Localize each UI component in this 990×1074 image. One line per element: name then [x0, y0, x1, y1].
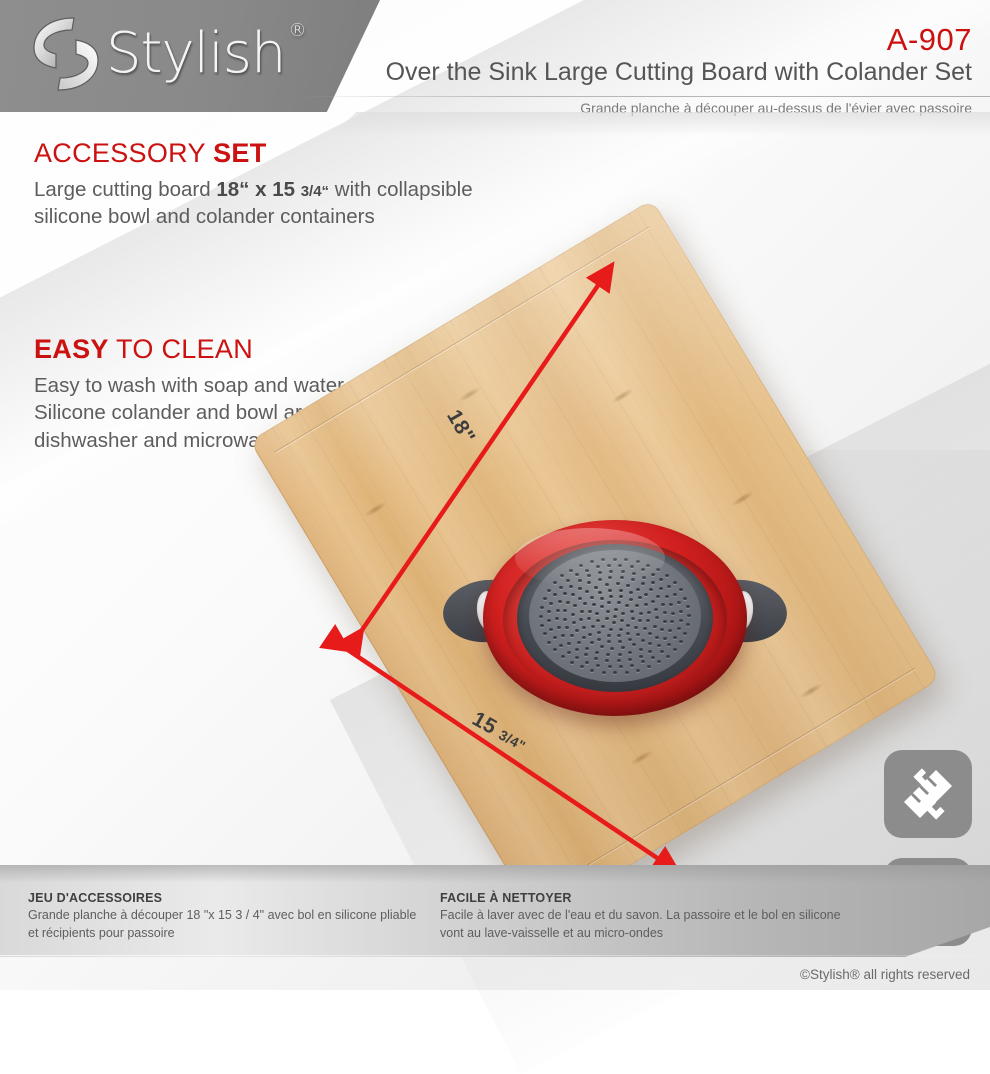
colander-perforation	[666, 655, 670, 658]
colander-perforation	[651, 581, 655, 584]
colander-perforation	[591, 625, 595, 628]
colander-perforation	[567, 651, 571, 654]
colander-perforation	[606, 653, 610, 656]
colander-perforation	[597, 638, 601, 641]
colander-perforation	[579, 564, 583, 567]
colander-perforation	[605, 617, 609, 620]
colander-perforation	[600, 597, 604, 600]
colander-perforation	[547, 641, 551, 644]
colander-perforation	[638, 596, 642, 599]
colander-perforation	[575, 629, 579, 632]
colander-perforation	[560, 574, 564, 577]
feature-body-fraction: 3/4“	[301, 183, 329, 200]
colander-perforation	[639, 655, 643, 658]
colander-perforation	[648, 632, 652, 635]
colander-perforation	[655, 636, 659, 639]
colander-perforation	[641, 639, 645, 642]
footer-column-left: JEU D'ACCESSOIRES Grande planche à décou…	[28, 891, 428, 943]
colander-perforation	[638, 619, 642, 622]
colander-perforation	[605, 583, 609, 586]
colander-perforation	[626, 632, 630, 635]
footer-text: Grande planche à découper 18 "x 15 3 / 4…	[28, 907, 428, 943]
colander-perforation	[612, 621, 616, 624]
colander-perforation	[636, 560, 640, 563]
colander-perforation	[543, 632, 547, 635]
colander-perforation	[671, 612, 675, 615]
colander-perforation	[659, 578, 663, 581]
colander-perforation	[618, 564, 622, 567]
silicone-colander	[455, 520, 775, 725]
copyright-notice: ©Stylish® all rights reserved	[800, 967, 970, 982]
colander-perforation	[670, 620, 674, 623]
colander-perforation	[601, 558, 605, 561]
colander-perforation	[569, 585, 573, 588]
colander-perforation	[687, 614, 691, 617]
colander-perforation	[609, 628, 613, 631]
colander-perforation	[547, 619, 551, 622]
colander-perforation	[563, 592, 567, 595]
colander-perforation	[649, 588, 653, 591]
colander-perforation	[572, 621, 576, 624]
colander-perforation	[607, 564, 611, 567]
colander-perforation	[596, 619, 600, 622]
feature-heading-bold: EASY	[34, 334, 109, 364]
colander-perforation	[669, 603, 673, 606]
colander-perforation	[646, 619, 650, 622]
colander-perforation	[610, 647, 614, 650]
colander-perforation	[553, 593, 557, 596]
colander-perforation	[585, 590, 589, 593]
colander-perforation	[686, 623, 690, 626]
colander-perforation	[597, 631, 601, 634]
colander-perforation	[613, 615, 617, 618]
colander-perforation	[607, 634, 611, 637]
colander-perforation	[619, 628, 623, 631]
model-number: A-907	[887, 22, 972, 58]
colander-perforation	[647, 665, 651, 668]
colander-perforation	[582, 636, 586, 639]
feature-accessory-set: ACCESSORY SET Large cutting board 18“ x …	[34, 138, 494, 231]
colander-perforation	[655, 616, 659, 619]
colander-perforation	[608, 665, 612, 668]
colander-perforation	[587, 617, 591, 620]
colander-perforation	[573, 604, 577, 607]
colander-perforation	[555, 617, 559, 620]
product-title: Over the Sink Large Cutting Board with C…	[386, 58, 972, 87]
colander-perforation	[621, 570, 625, 573]
colander-perforation	[647, 611, 651, 614]
feature-heading-bold: SET	[213, 138, 266, 168]
colander-perforation	[629, 598, 633, 601]
colander-perforation	[595, 651, 599, 654]
colander-perforation	[577, 641, 581, 644]
colander-perforation	[559, 586, 563, 589]
colander-perforation	[628, 658, 632, 661]
colander-perforation	[590, 669, 594, 672]
colander-perforation	[673, 581, 677, 584]
colander-perforation	[617, 601, 621, 604]
colander-perforation	[667, 585, 671, 588]
colander-perforation	[656, 595, 660, 598]
colander-perforation	[679, 588, 683, 591]
colander-perforation	[642, 576, 646, 579]
colander-perforation	[686, 605, 690, 608]
colander-perforation	[648, 650, 652, 653]
colander-perforation	[585, 661, 589, 664]
colander-perforation	[651, 573, 655, 576]
footer-column-right: FACILE À NETTOYER Facile à laver avec de…	[440, 891, 860, 943]
colander-perforation	[549, 628, 553, 631]
colander-perforation	[590, 596, 594, 599]
colander-perforation	[595, 612, 599, 615]
colander-perforation	[657, 644, 661, 647]
colander-perforation	[631, 578, 635, 581]
colander-perforation	[665, 595, 669, 598]
feature-body-pre: Large cutting board	[34, 178, 216, 201]
colander-perforation	[679, 619, 683, 622]
colander-perforation	[549, 602, 553, 605]
colander-perforation	[543, 597, 547, 600]
colander-perforation	[653, 625, 657, 628]
colander-perforation	[596, 565, 600, 568]
feature-body: Large cutting board 18“ x 15 3/4“ with c…	[34, 176, 494, 231]
colander-perforation	[561, 655, 565, 658]
colander-perforation	[609, 595, 613, 598]
colander-perforation	[621, 646, 625, 649]
colander-perforation	[563, 609, 567, 612]
colander-perforation	[557, 626, 561, 629]
colander-perforation	[601, 625, 605, 628]
colander-perforation	[679, 640, 683, 643]
colander-perforation	[673, 593, 677, 596]
colander-perforation	[639, 648, 643, 651]
colander-perforation	[596, 664, 600, 667]
colander-perforation	[598, 578, 602, 581]
colander-perforation	[575, 656, 579, 659]
colander-perforation	[561, 634, 565, 637]
colander-perforation	[587, 581, 591, 584]
stylish-s-mark-icon	[28, 14, 104, 94]
header-sheen	[330, 112, 990, 136]
feature-heading-light: ACCESSORY	[34, 138, 213, 168]
colander-perforation	[558, 600, 562, 603]
pencil-ruler-icon	[898, 764, 958, 824]
colander-perforation	[553, 648, 557, 651]
colander-perforation	[602, 671, 606, 674]
colander-perforation	[620, 619, 624, 622]
colander-perforation	[594, 586, 598, 589]
colander-perforation	[585, 647, 589, 650]
colander-perforation	[606, 610, 610, 613]
colander-perforation	[636, 633, 640, 636]
colander-perforation	[617, 634, 621, 637]
colander-perforation	[566, 579, 570, 582]
colander-perforation	[673, 636, 677, 639]
colander-perforation	[677, 601, 681, 604]
colander-perforation	[663, 637, 667, 640]
colander-perforation	[626, 584, 630, 587]
page-background: Stylish ® A-907 Over the Sink Large Cutt…	[0, 0, 990, 990]
colander-perforation	[641, 568, 645, 571]
colander-perforation	[600, 645, 604, 648]
colander-perforation	[617, 659, 621, 662]
colander-perforation	[626, 624, 630, 627]
colander-perforation	[635, 604, 639, 607]
colander-perforation	[643, 627, 647, 630]
colander-perforation	[683, 597, 687, 600]
colander-perforation	[588, 610, 592, 613]
colander-perforation	[613, 558, 617, 561]
colander-perforation	[667, 643, 671, 646]
footer-text: Facile à laver avec de l'eau et du savon…	[440, 907, 860, 943]
footer-title: JEU D'ACCESSOIRES	[28, 891, 428, 905]
colander-perforation	[628, 651, 632, 654]
colander-perforation	[663, 620, 667, 623]
colander-perforation	[632, 643, 636, 646]
colander-perforation	[608, 576, 612, 579]
colander-perforation	[641, 582, 645, 585]
colander-perforation	[578, 579, 582, 582]
colander-perforation	[629, 591, 633, 594]
colander-perforation	[563, 618, 567, 621]
colander-perforation	[605, 659, 609, 662]
feature-heading-light: TO CLEAN	[109, 334, 253, 364]
colander-perforation	[636, 669, 640, 672]
footer-title: FACILE À NETTOYER	[440, 891, 860, 905]
colander-perforation	[660, 628, 664, 631]
colander-perforation	[668, 629, 672, 632]
colander-perforation	[625, 604, 629, 607]
colander-perforation	[660, 650, 664, 653]
footer: JEU D'ACCESSOIRES Grande planche à décou…	[0, 865, 990, 990]
colander-perforation	[565, 626, 569, 629]
colander-perforation	[683, 632, 687, 635]
colander-perforated-base	[529, 550, 701, 682]
colander-perforation	[587, 574, 591, 577]
colander-perforation	[630, 565, 634, 568]
colander-perforation	[625, 671, 629, 674]
colander-perforation	[579, 618, 583, 621]
colander-perforation	[547, 610, 551, 613]
colander-perforation	[619, 589, 623, 592]
colander-perforation	[594, 657, 598, 660]
colander-perforation	[539, 615, 543, 618]
colander-perforation	[665, 574, 669, 577]
colander-perforation	[619, 665, 623, 668]
colander-perforation	[559, 644, 563, 647]
colander-perforation	[634, 626, 638, 629]
header: Stylish ® A-907 Over the Sink Large Cutt…	[0, 0, 990, 122]
colander-perforation	[598, 591, 602, 594]
colander-perforation	[628, 638, 632, 641]
colander-perforation	[648, 642, 652, 645]
badge-tools-measure	[884, 750, 972, 838]
colander-perforation	[646, 564, 650, 567]
colander-perforation	[588, 633, 592, 636]
feature-heading: ACCESSORY SET	[34, 138, 494, 169]
colander-perforation	[618, 653, 622, 656]
colander-perforation	[553, 581, 557, 584]
colander-perforation	[630, 610, 634, 613]
colander-perforation	[632, 572, 636, 575]
colander-perforation	[616, 582, 620, 585]
colander-perforation	[580, 665, 584, 668]
colander-perforation	[673, 648, 677, 651]
colander-perforation	[585, 569, 589, 572]
colander-perforation	[619, 595, 623, 598]
colander-perforation	[677, 627, 681, 630]
colander-perforation	[607, 601, 611, 604]
colander-perforation	[641, 660, 645, 663]
colander-perforation	[578, 597, 582, 600]
colander-perforation	[614, 608, 618, 611]
colander-perforation	[567, 642, 571, 645]
colander-perforation	[644, 603, 648, 606]
colander-perforation	[570, 634, 574, 637]
colander-perforation	[575, 648, 579, 651]
colander-perforation	[639, 612, 643, 615]
colander-perforation	[575, 573, 579, 576]
colander-perforation	[654, 608, 658, 611]
colander-perforation	[598, 571, 602, 574]
colander-perforation	[569, 569, 573, 572]
colander-perforation	[571, 613, 575, 616]
colander-perforation	[580, 610, 584, 613]
footer-divider	[0, 955, 990, 956]
footer-top-shade	[0, 865, 990, 883]
colander-perforation	[540, 606, 544, 609]
colander-perforation	[624, 558, 628, 561]
colander-perforation	[620, 576, 624, 579]
feature-body-dimension: 18“ x 15	[216, 178, 300, 201]
colander-perforation	[644, 593, 648, 596]
colander-perforation	[570, 661, 574, 664]
colander-perforation	[613, 671, 617, 674]
colander-perforation	[631, 617, 635, 620]
colander-perforation	[540, 624, 544, 627]
colander-perforation	[583, 602, 587, 605]
brand-wordmark: Stylish ®	[106, 26, 285, 82]
colander-perforation	[590, 560, 594, 563]
colander-perforation	[547, 589, 551, 592]
colander-perforation	[651, 656, 655, 659]
colander-perforation	[618, 640, 622, 643]
colander-perforation	[659, 587, 663, 590]
colander-perforation	[657, 660, 661, 663]
colander-perforation	[679, 610, 683, 613]
colander-perforation	[663, 611, 667, 614]
colander-perforation	[578, 587, 582, 590]
colander-perforation	[608, 589, 612, 592]
colander-perforation	[661, 603, 665, 606]
header-divider	[300, 96, 990, 97]
colander-perforation	[571, 593, 575, 596]
colander-perforation	[609, 570, 613, 573]
colander-perforation	[636, 588, 640, 591]
brand-logo: Stylish ®	[28, 14, 285, 94]
colander-perforation	[600, 605, 604, 608]
colander-perforation	[656, 568, 660, 571]
colander-perforation	[607, 640, 611, 643]
colander-perforation	[566, 601, 570, 604]
colander-perforation	[651, 600, 655, 603]
colander-perforation	[630, 664, 634, 667]
colander-perforation	[621, 612, 625, 615]
colander-perforation	[584, 653, 588, 656]
colander-perforation	[590, 641, 594, 644]
colander-perforation	[553, 636, 557, 639]
colander-perforation	[582, 626, 586, 629]
colander-perforation	[556, 609, 560, 612]
colander-perforation	[592, 603, 596, 606]
registered-mark: ®	[288, 22, 305, 40]
